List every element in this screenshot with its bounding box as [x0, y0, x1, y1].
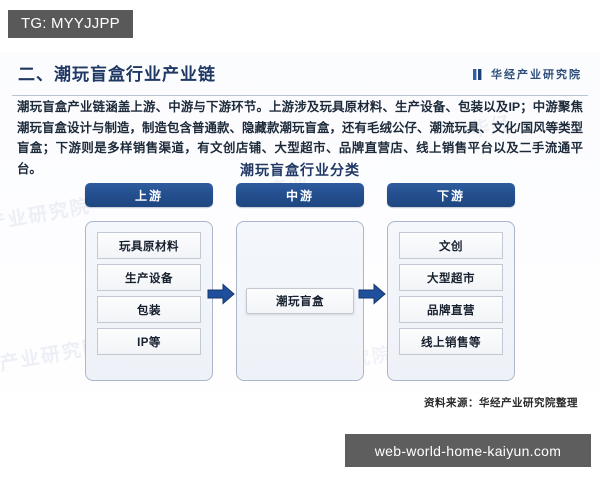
list-item: 品牌直营: [399, 296, 503, 323]
list-item: 线上销售等: [399, 328, 503, 355]
list-item: 生产设备: [97, 264, 201, 291]
value-chain-diagram: 上游 玩具原材料 生产设备 包装 IP等 中游 潮玩盲盒 下游 文创 大型超市: [85, 183, 515, 388]
column-header-upstream: 上游: [85, 183, 213, 207]
right-arrow-icon: [358, 283, 386, 305]
right-arrow-icon: [207, 283, 235, 305]
column-body-midstream: 潮玩盲盒: [236, 221, 364, 381]
tg-badge: TG: MYYJJPP: [8, 10, 133, 38]
source-note: 资料来源：华经产业研究院整理: [424, 395, 578, 410]
section-title: 二、潮玩盲盒行业产业链: [18, 60, 216, 85]
column-upstream: 上游 玩具原材料 生产设备 包装 IP等: [85, 183, 213, 388]
column-downstream: 下游 文创 大型超市 品牌直营 线上销售等: [387, 183, 515, 388]
article-header: 二、潮玩盲盒行业产业链 华经产业研究院: [0, 60, 600, 92]
list-item: 玩具原材料: [97, 232, 201, 259]
list-item: 文创: [399, 232, 503, 259]
brand-logo: 华经产业研究院: [473, 66, 582, 82]
column-midstream: 中游 潮玩盲盒: [236, 183, 364, 388]
site-watermark: web-world-home-kaiyun.com: [345, 434, 591, 467]
page-root: TG: MYYJJPP 产业研究院 经产业研究院 华经 产业 研究院 二、潮玩盲…: [0, 0, 600, 480]
column-body-upstream: 玩具原材料 生产设备 包装 IP等: [85, 221, 213, 381]
chart-title: 潮玩盲盒行业分类: [0, 160, 600, 180]
list-item: 大型超市: [399, 264, 503, 291]
brand-name: 华经产业研究院: [491, 66, 582, 82]
column-header-downstream: 下游: [387, 183, 515, 207]
background-watermark: 产业研究院: [0, 191, 93, 236]
column-header-midstream: 中游: [236, 183, 364, 207]
bar-mark-icon: [473, 69, 486, 80]
list-item: IP等: [97, 328, 201, 355]
header-divider: [12, 95, 588, 96]
article-sheet: 产业研究院 经产业研究院 华经 产业 研究院 二、潮玩盲盒行业产业链 华经产业研…: [0, 52, 600, 430]
list-item: 潮玩盲盒: [246, 288, 354, 314]
column-body-downstream: 文创 大型超市 品牌直营 线上销售等: [387, 221, 515, 381]
list-item: 包装: [97, 296, 201, 323]
